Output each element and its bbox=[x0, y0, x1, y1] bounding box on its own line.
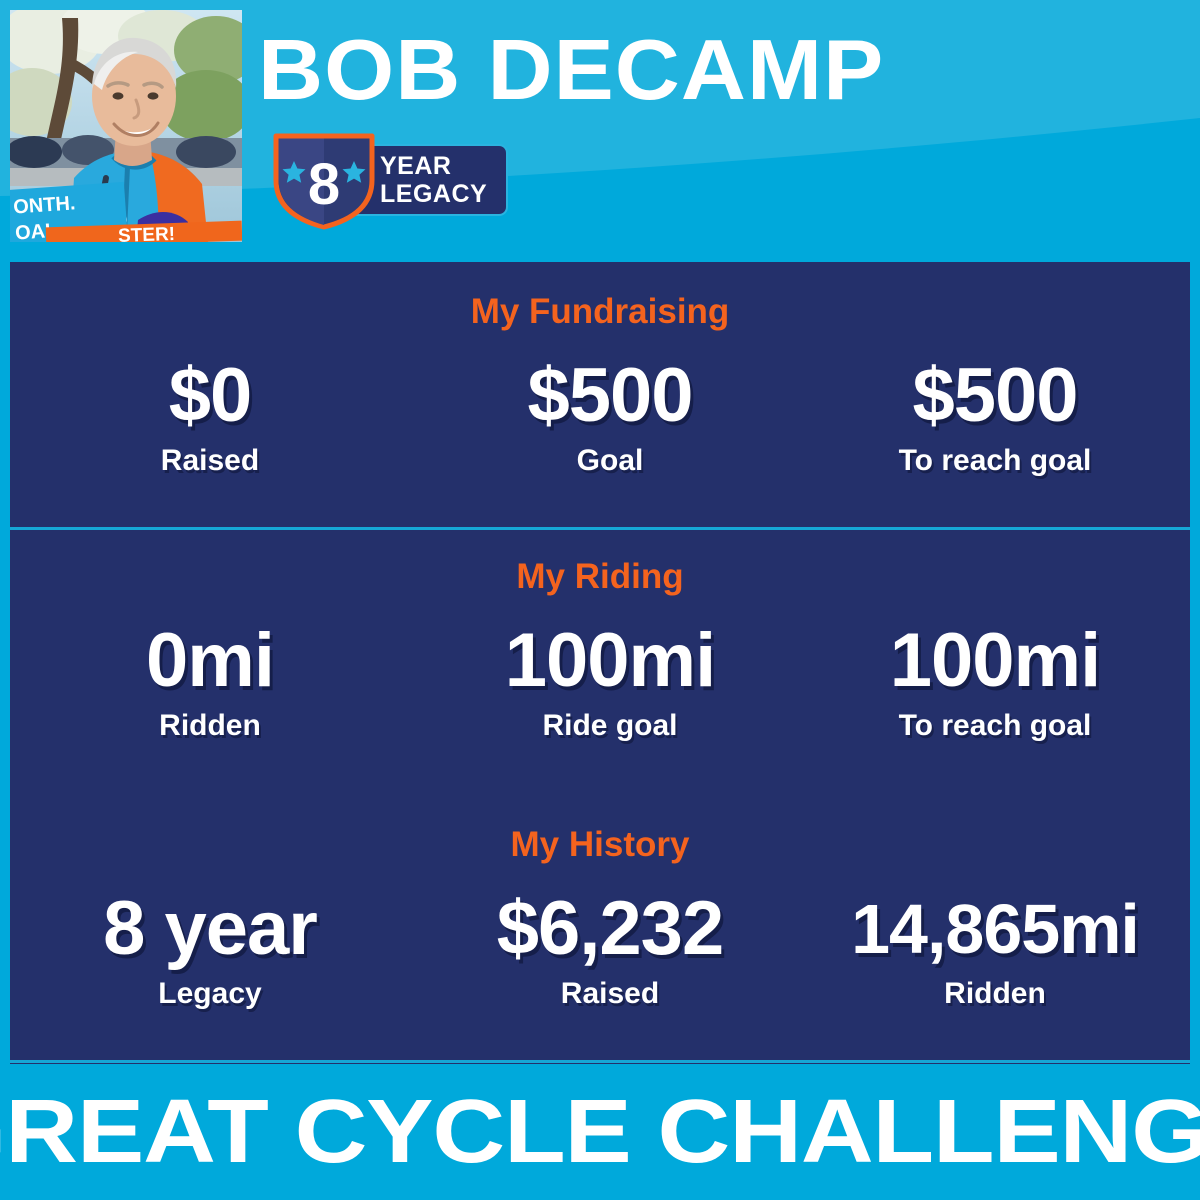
stat-label: Ridden bbox=[30, 707, 390, 745]
svg-text:ONTH.: ONTH. bbox=[13, 192, 77, 218]
stat-value: 14,865mi bbox=[810, 883, 1180, 975]
stat-ride-to-reach-goal: 100mi To reach goal bbox=[810, 615, 1180, 745]
section-title-riding: My Riding bbox=[10, 557, 1190, 597]
stat-label: To reach goal bbox=[810, 707, 1180, 745]
stat-row-history: 8 year Legacy $6,232 Raised 14,865mi Rid… bbox=[10, 883, 1190, 1043]
stat-goal: $500 Goal bbox=[420, 350, 800, 480]
stat-history-ridden: 14,865mi Ridden bbox=[810, 883, 1180, 1013]
stat-ride-goal: 100mi Ride goal bbox=[420, 615, 800, 745]
stat-value: $0 bbox=[30, 350, 390, 442]
stat-to-reach-goal: $500 To reach goal bbox=[810, 350, 1180, 480]
shield-icon: 8 bbox=[268, 128, 380, 232]
legacy-years-value: 8 bbox=[308, 152, 340, 217]
stat-ridden: 0mi Ridden bbox=[30, 615, 390, 745]
legacy-legacy-label: LEGACY bbox=[380, 180, 510, 208]
legacy-badge: 8 YEAR LEGACY bbox=[268, 128, 508, 232]
rider-photo: ONTH. OAL. STER! bbox=[10, 10, 242, 242]
section-fundraising: My Fundraising $0 Raised $500 Goal $500 … bbox=[10, 262, 1190, 527]
legacy-plate-text: YEAR LEGACY bbox=[380, 152, 510, 208]
stat-raised: $0 Raised bbox=[30, 350, 390, 480]
stat-label: Raised bbox=[420, 975, 800, 1013]
stat-label: Goal bbox=[420, 442, 800, 480]
footer: GREAT CYCLE CHALLENGE bbox=[0, 1064, 1200, 1200]
section-title-history: My History bbox=[10, 825, 1190, 865]
section-title-fundraising: My Fundraising bbox=[10, 292, 1190, 332]
section-history: My History 8 year Legacy $6,232 Raised 1… bbox=[10, 795, 1190, 1064]
stat-value: $6,232 bbox=[420, 883, 800, 975]
stat-value: $500 bbox=[810, 350, 1180, 442]
stat-value: 100mi bbox=[420, 615, 800, 707]
fundraiser-stats-poster: ONTH. OAL. STER! BOB DECAMP 8 bbox=[0, 0, 1200, 1200]
stat-label: To reach goal bbox=[810, 442, 1180, 480]
section-riding: My Riding 0mi Ridden 100mi Ride goal 100… bbox=[10, 527, 1190, 795]
legacy-year-label: YEAR bbox=[380, 152, 510, 180]
stat-row-riding: 0mi Ridden 100mi Ride goal 100mi To reac… bbox=[10, 615, 1190, 775]
stat-value: 100mi bbox=[810, 615, 1180, 707]
stat-label: Ridden bbox=[810, 975, 1180, 1013]
stat-value: 8 year bbox=[30, 883, 390, 975]
svg-text:STER!: STER! bbox=[118, 224, 176, 242]
stat-value: $500 bbox=[420, 350, 800, 442]
stat-value: 0mi bbox=[30, 615, 390, 707]
great-cycle-challenge-logo: GREAT CYCLE CHALLENGE bbox=[0, 1074, 1200, 1190]
header: ONTH. OAL. STER! BOB DECAMP 8 bbox=[0, 0, 1200, 252]
stat-history-raised: $6,232 Raised bbox=[420, 883, 800, 1013]
stat-label: Raised bbox=[30, 442, 390, 480]
stat-legacy: 8 year Legacy bbox=[30, 883, 390, 1013]
stat-label: Legacy bbox=[30, 975, 390, 1013]
stat-label: Ride goal bbox=[420, 707, 800, 745]
stat-row-fundraising: $0 Raised $500 Goal $500 To reach goal bbox=[10, 350, 1190, 510]
page-title: BOB DECAMP bbox=[258, 16, 1000, 126]
stats-panel: My Fundraising $0 Raised $500 Goal $500 … bbox=[10, 262, 1190, 1064]
